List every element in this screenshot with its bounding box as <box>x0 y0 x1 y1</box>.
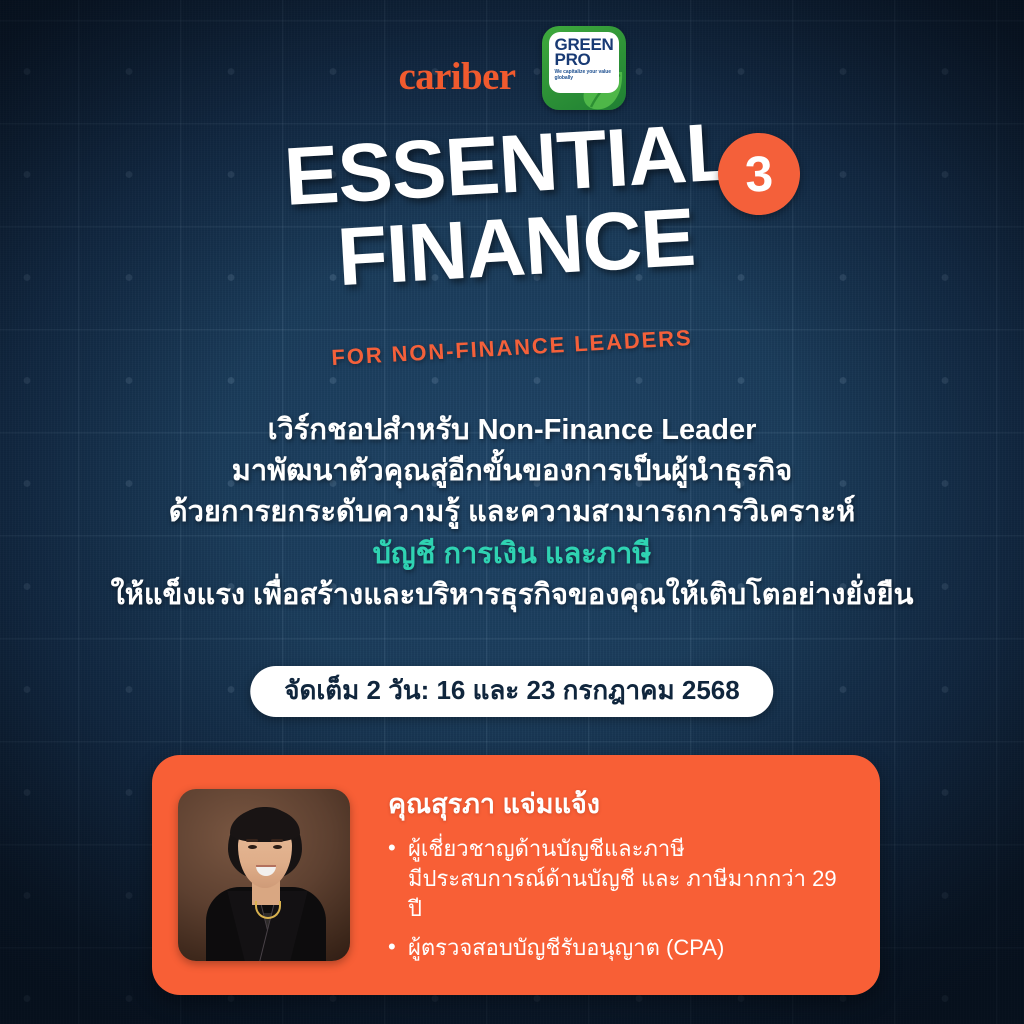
speaker-credentials-list: ผู้เชี่ยวชาญด้านบัญชีและภาษี มีประสบการณ… <box>388 834 854 963</box>
list-item: ผู้เชี่ยวชาญด้านบัญชีและภาษี มีประสบการณ… <box>388 834 854 924</box>
credential-main: ผู้เชี่ยวชาญด้านบัญชีและภาษี <box>408 836 685 861</box>
body-copy-block: เวิร์กชอปสำหรับ Non-Finance Leader มาพัฒ… <box>0 410 1024 616</box>
speaker-photo <box>178 789 350 961</box>
poster-canvas: cariber GREEN PRO We capitalize your val… <box>0 0 1024 1024</box>
body-line-3: ด้วยการยกระดับความรู้ และความสามารถการวิ… <box>0 492 1024 533</box>
credential-sub: มีประสบการณ์ด้านบัญชี และ ภาษีมากกว่า 29… <box>408 864 854 924</box>
portrait-fringe <box>230 808 300 842</box>
list-item: ผู้ตรวจสอบบัญชีรับอนุญาต (CPA) <box>388 933 854 963</box>
credential-main: ผู้ตรวจสอบบัญชีรับอนุญาต (CPA) <box>408 935 724 960</box>
speaker-card: คุณสุรภา แจ่มแจ้ง ผู้เชี่ยวชาญด้านบัญชีแ… <box>152 755 880 995</box>
speaker-name: คุณสุรภา แจ่มแจ้ง <box>388 788 854 820</box>
logo-row: cariber GREEN PRO We capitalize your val… <box>0 26 1024 110</box>
date-badge: จัดเต็ม 2 วัน: 16 และ 23 กรกฎาคม 2568 <box>250 666 773 717</box>
portrait-eye-left <box>248 845 257 849</box>
hero-title-block: ESSENTIAL FINANCE <box>0 126 1024 286</box>
greenpro-tagline: We capitalize your value globally <box>555 70 616 81</box>
body-line-5: ให้แข็งแรง เพื่อสร้างและบริหารธุรกิจของค… <box>0 575 1024 616</box>
body-line-2: มาพัฒนาตัวคุณสู่อีกขั้นของการเป็นผู้นำธุ… <box>0 451 1024 492</box>
greenpro-line2: PRO <box>555 52 616 68</box>
portrait-brow-left <box>246 839 258 842</box>
body-line-1: เวิร์กชอปสำหรับ Non-Finance Leader <box>0 410 1024 451</box>
speaker-details: คุณสุรภา แจ่มแจ้ง ผู้เชี่ยวชาญด้านบัญชีแ… <box>350 788 854 963</box>
cariber-logo[interactable]: cariber <box>398 57 515 96</box>
body-highlight-line: บัญชี การเงิน และภาษี <box>0 534 1024 575</box>
portrait-eye-right <box>273 845 282 849</box>
greenpro-logo[interactable]: GREEN PRO We capitalize your value globa… <box>542 26 626 110</box>
portrait-brow-right <box>271 839 283 842</box>
greenpro-label-box: GREEN PRO We capitalize your value globa… <box>549 32 619 93</box>
